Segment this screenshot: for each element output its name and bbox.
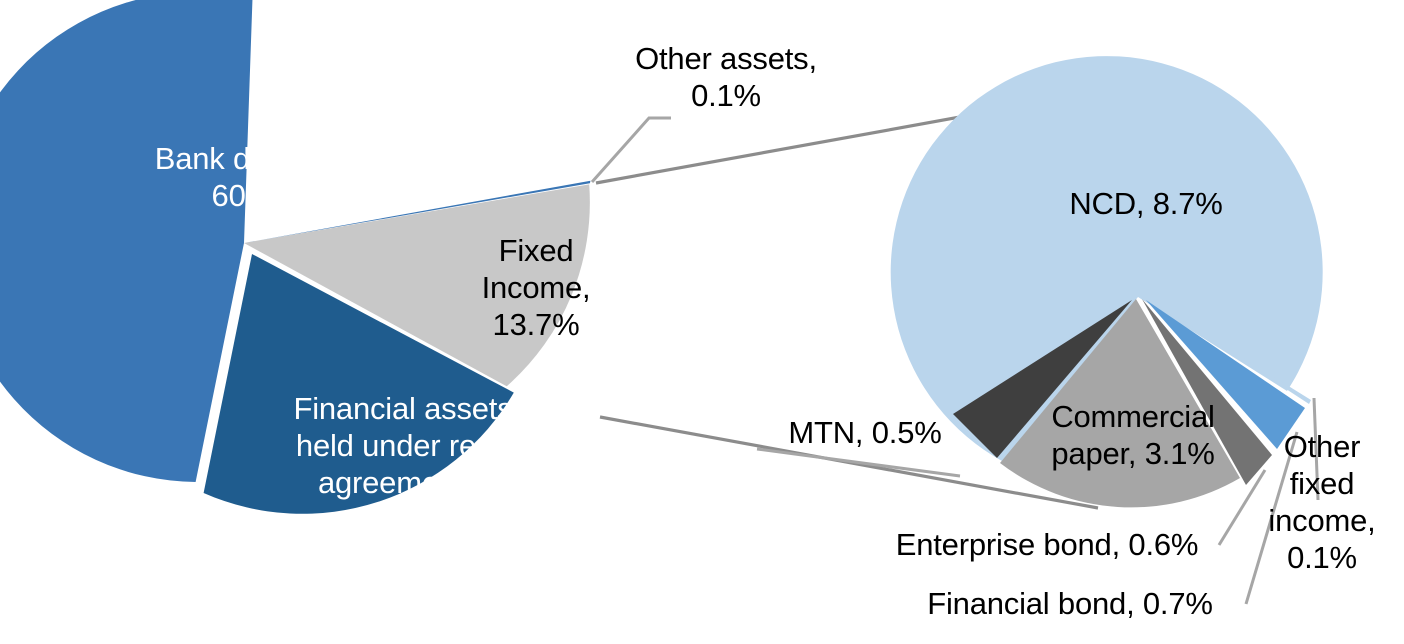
slice-bank-deposits[interactable]	[0, 0, 252, 482]
label-enterprise-bond: Enterprise bond, 0.6%	[872, 526, 1222, 563]
label-ncd: NCD, 8.7%	[1046, 185, 1246, 222]
label-fixed-income: Fixed Income, 13.7%	[466, 232, 606, 343]
pie-of-pie-chart: Bank deposits, 60.3% Fixed Income, 13.7%…	[0, 0, 1404, 644]
callout-line-mtn	[757, 449, 960, 476]
label-repo-agreements: Financial assets held under repo agreeme…	[264, 390, 542, 538]
label-mtn: MTN, 0.5%	[770, 414, 960, 451]
label-bank-deposits: Bank deposits, 60.3%	[130, 140, 380, 214]
label-other-fixed-income: Other fixed income, 0.1%	[1258, 428, 1386, 576]
label-other-assets: Other assets, 0.1%	[608, 40, 844, 114]
label-commercial-paper: Commercial paper, 3.1%	[1028, 398, 1238, 472]
label-financial-bond: Financial bond, 0.7%	[900, 585, 1240, 622]
